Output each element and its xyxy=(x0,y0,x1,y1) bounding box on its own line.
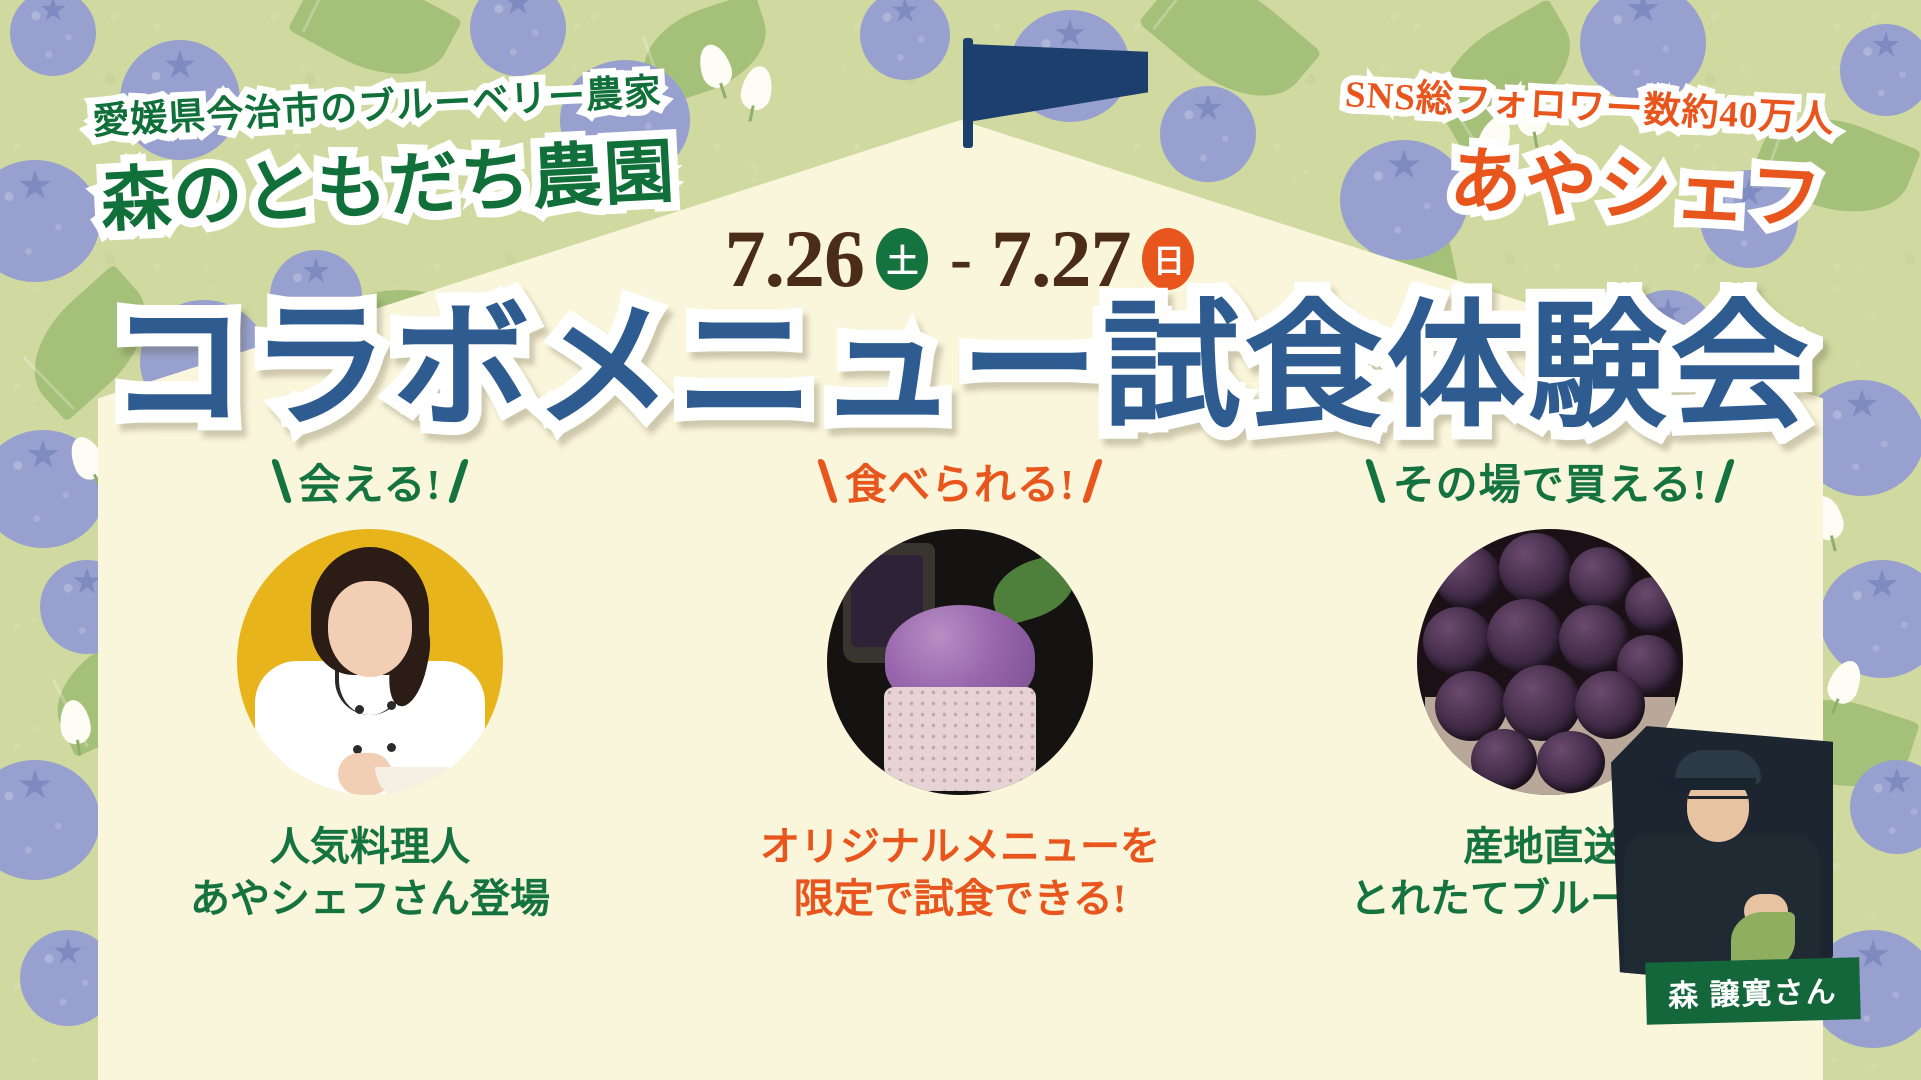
chef-photo xyxy=(237,529,503,795)
blueberry-decoration xyxy=(1160,86,1256,182)
farmer-photo xyxy=(1611,726,1833,988)
feature-badge-meet: 会える! xyxy=(278,455,463,507)
feature-caption-taste: オリジナルメニューを 限定で試食できる! xyxy=(760,821,1160,925)
feature-badge-taste: 食べられる! xyxy=(824,455,1096,507)
feature-badge-label: その場で買える! xyxy=(1393,451,1708,512)
blueberry-decoration xyxy=(1840,24,1921,116)
event-date: 7.26 土 - 7.27 日 xyxy=(0,218,1921,300)
event-title: コラボメニュー試食体験会 xyxy=(0,296,1921,441)
date-end: 7.27 xyxy=(991,218,1131,300)
feature-columns: 会える! 人気料理人 あやシェフさん登場 食べられ xyxy=(110,455,1810,1065)
date-separator: - xyxy=(950,221,971,297)
date-start-daymark: 土 xyxy=(876,228,928,290)
slash-left-icon xyxy=(817,459,838,503)
feature-caption-meet: 人気料理人 あやシェフさん登場 xyxy=(190,821,550,925)
feature-badge-label: 会える! xyxy=(299,451,442,512)
date-end-daymark: 日 xyxy=(1142,228,1194,290)
date-start: 7.26 xyxy=(725,218,865,300)
slash-right-icon xyxy=(1714,459,1735,503)
feature-column-meet: 会える! 人気料理人 あやシェフさん登場 xyxy=(110,455,630,1065)
slash-right-icon xyxy=(1082,459,1103,503)
gelato-photo xyxy=(827,529,1093,795)
slash-right-icon xyxy=(448,459,469,503)
feature-column-taste: 食べられる! オリジナルメニューを 限定で試食できる! xyxy=(700,455,1220,1065)
poster-canvas: 愛媛県今治市のブルーベリー農家 森のともだち農園 SNS総フォロワー数約40万人… xyxy=(0,0,1921,1080)
slash-left-icon xyxy=(1364,459,1385,503)
feature-badge-buy: その場で買える! xyxy=(1372,455,1729,507)
slash-left-icon xyxy=(270,459,291,503)
feature-badge-label: 食べられる! xyxy=(845,451,1075,512)
farmer-name-tag: 森 譲寛さん xyxy=(1645,957,1860,1025)
